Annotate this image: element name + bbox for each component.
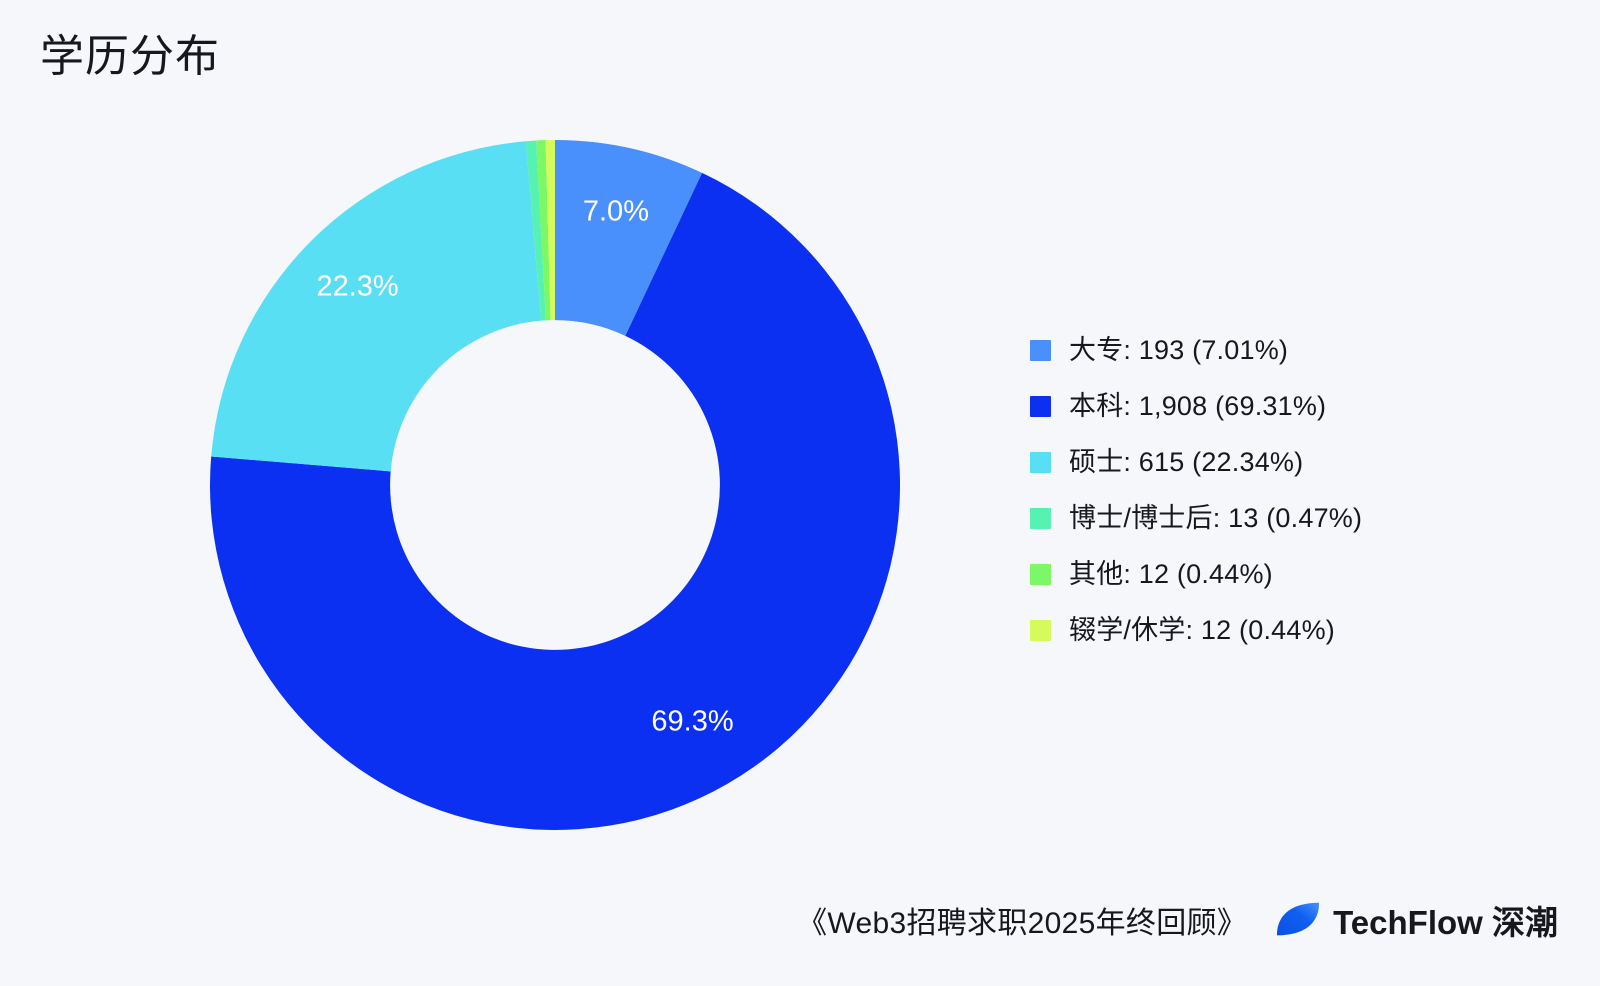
brand-logo: TechFlow 深潮	[1275, 896, 1558, 944]
legend-color-swatch	[1030, 620, 1051, 641]
donut-slice[interactable]	[211, 141, 541, 471]
legend-item-label: 大专: 193 (7.01%)	[1069, 337, 1288, 364]
legend-color-swatch	[1030, 452, 1051, 473]
donut-chart-svg: 7.0%69.3%22.3%	[205, 135, 905, 835]
legend-color-swatch	[1030, 508, 1051, 529]
footer-caption: 《Web3招聘求职2025年终回顾》	[797, 898, 1247, 942]
brand-name: TechFlow 深潮	[1333, 896, 1558, 944]
legend-item[interactable]: 硕士: 615 (22.34%)	[1030, 434, 1362, 490]
legend-item-label: 辍学/休学: 12 (0.44%)	[1069, 617, 1335, 644]
chart-legend: 大专: 193 (7.01%)本科: 1,908 (69.31%)硕士: 615…	[1030, 322, 1362, 658]
legend-item-label: 博士/博士后: 13 (0.47%)	[1069, 505, 1362, 532]
legend-item[interactable]: 辍学/休学: 12 (0.44%)	[1030, 602, 1362, 658]
donut-slice-group	[210, 140, 900, 830]
legend-item[interactable]: 大专: 193 (7.01%)	[1030, 322, 1362, 378]
page-title: 学历分布	[40, 28, 220, 85]
donut-slice-label: 22.3%	[316, 271, 398, 303]
legend-color-swatch	[1030, 340, 1051, 361]
legend-color-swatch	[1030, 396, 1051, 417]
legend-item-label: 硕士: 615 (22.34%)	[1069, 449, 1303, 476]
legend-color-swatch	[1030, 564, 1051, 585]
donut-chart: 7.0%69.3%22.3%	[205, 135, 905, 835]
legend-item[interactable]: 博士/博士后: 13 (0.47%)	[1030, 490, 1362, 546]
legend-item-label: 其他: 12 (0.44%)	[1069, 561, 1273, 588]
legend-item[interactable]: 本科: 1,908 (69.31%)	[1030, 378, 1362, 434]
donut-slice-label: 69.3%	[651, 706, 733, 738]
footer: 《Web3招聘求职2025年终回顾》 TechFlow 深潮	[797, 896, 1558, 944]
legend-item-label: 本科: 1,908 (69.31%)	[1069, 393, 1326, 420]
techflow-leaf-icon	[1275, 897, 1321, 943]
legend-item[interactable]: 其他: 12 (0.44%)	[1030, 546, 1362, 602]
donut-slice-label: 7.0%	[583, 195, 649, 227]
